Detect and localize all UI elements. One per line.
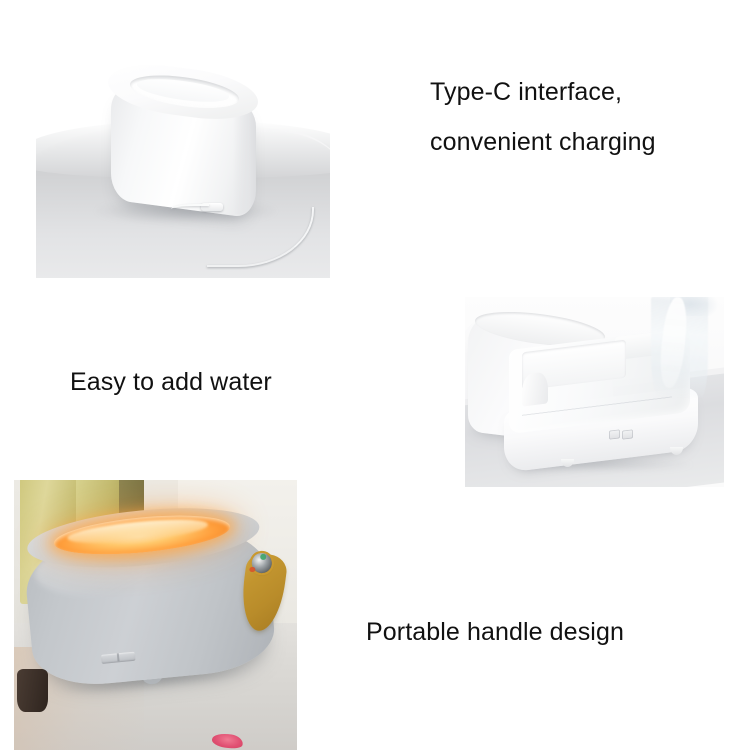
humidifier-grey <box>20 498 280 704</box>
caption-add-water: Easy to add water <box>70 362 272 402</box>
humidifier-white <box>111 83 255 218</box>
decor-dark-object <box>17 669 48 712</box>
caption-portable-handle: Portable handle design <box>366 612 624 652</box>
caption-type-c-line1: Type-C interface, <box>430 72 622 112</box>
product-feature-collage: Type-C interface, convenient charging Ea… <box>0 0 750 750</box>
charging-cable-upper <box>171 204 209 213</box>
caption-type-c-line2: convenient charging <box>430 122 656 162</box>
photo-add-water <box>465 297 724 487</box>
control-button-2 <box>622 429 633 439</box>
device-side-panel <box>233 102 256 216</box>
control-button-1 <box>609 429 620 439</box>
photo-portable-handle <box>14 480 297 750</box>
photo-charging <box>36 55 330 278</box>
